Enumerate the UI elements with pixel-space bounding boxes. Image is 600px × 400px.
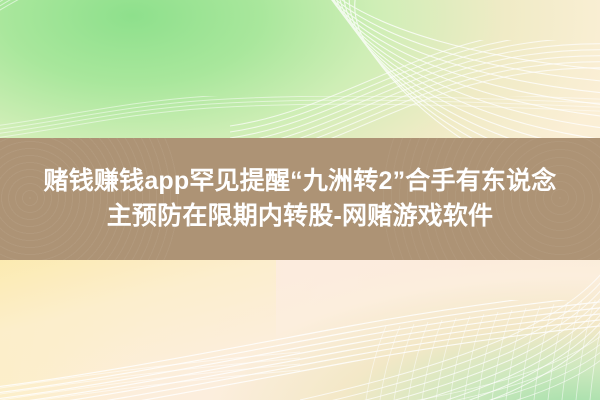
headline-line-2: 主预防在限期内转股-网赌游戏软件 (107, 199, 494, 235)
article-banner: 赌钱赚钱app罕见提醒“九洲转2”合手有东说念 主预防在限期内转股-网赌游戏软件 (0, 0, 600, 400)
headline-line-1: 赌钱赚钱app罕见提醒“九洲转2”合手有东说念 (44, 164, 557, 200)
background-lower-left-gradient (0, 248, 276, 400)
headline-band: 赌钱赚钱app罕见提醒“九洲转2”合手有东说念 主预防在限期内转股-网赌游戏软件 (0, 138, 600, 260)
